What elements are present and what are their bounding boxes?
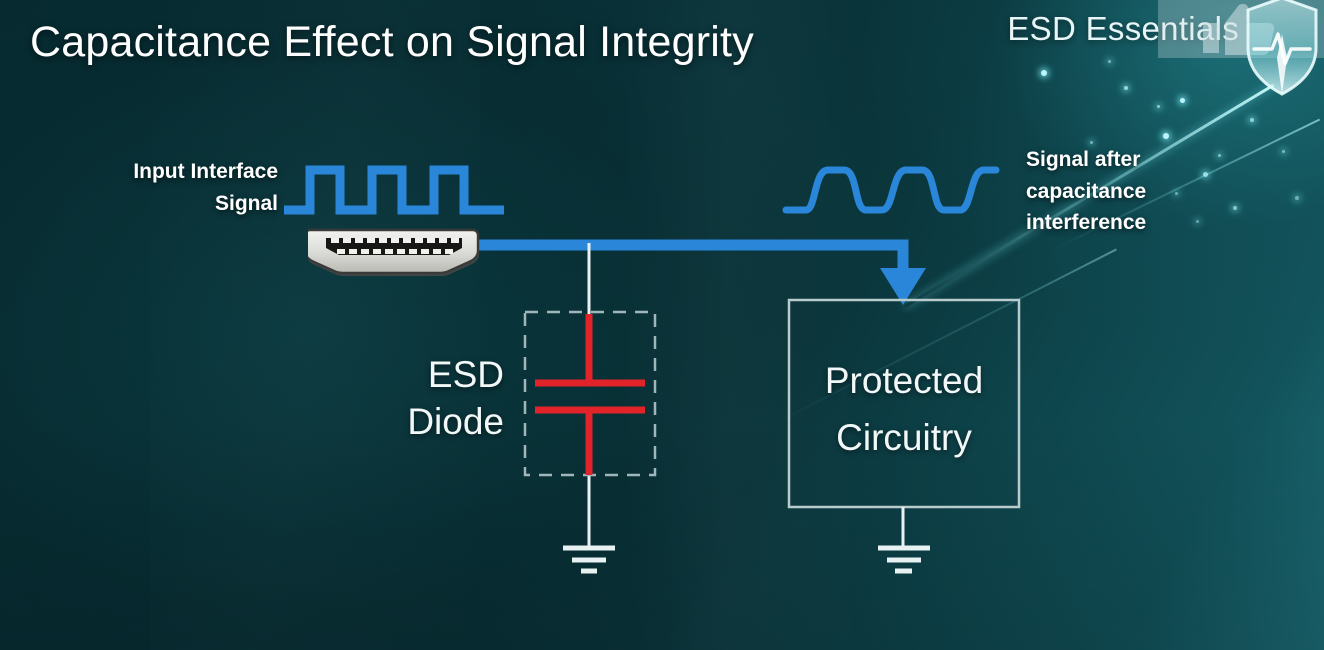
capacitor-symbol — [535, 314, 645, 475]
ground-symbol-circuit — [878, 507, 930, 571]
protected-circuitry-label-line2: Circuitry — [790, 409, 1018, 466]
esd-diode-label: ESD Diode — [392, 352, 504, 446]
hdmi-connector-icon — [308, 228, 480, 278]
ground-symbol-esd — [563, 548, 615, 571]
circuit-diagram — [0, 0, 1324, 650]
protected-circuitry-label-line1: Protected — [790, 352, 1018, 409]
esd-diode-label-line2: Diode — [392, 399, 504, 446]
slide-canvas: Capacitance Effect on Signal Integrity E… — [0, 0, 1324, 650]
signal-trace — [470, 245, 926, 305]
protected-circuitry-label: Protected Circuitry — [790, 352, 1018, 467]
esd-diode-label-line1: ESD — [392, 352, 504, 399]
